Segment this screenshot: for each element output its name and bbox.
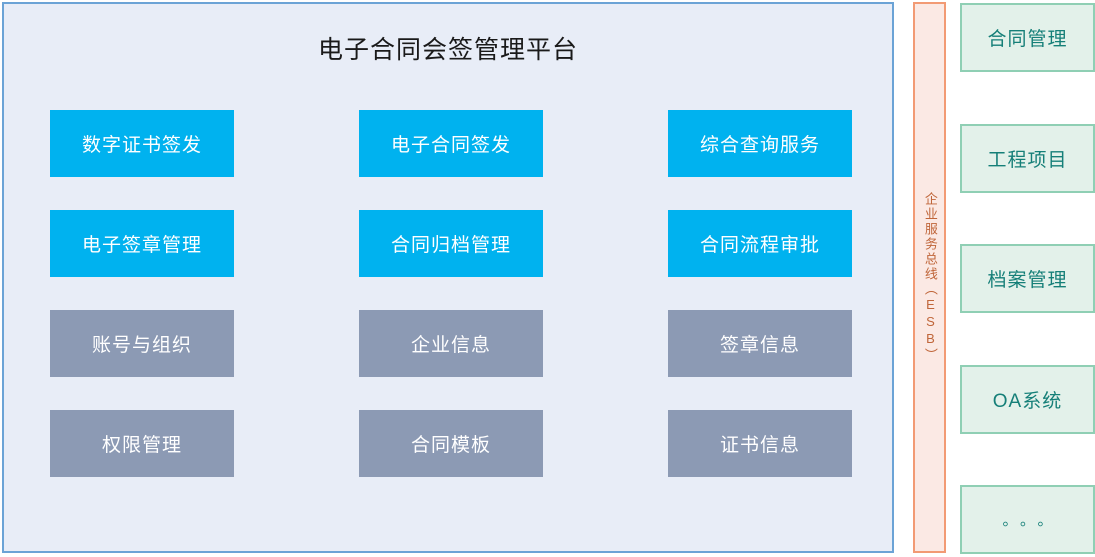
module-box-contract-template[interactable]: 合同模板 bbox=[359, 410, 543, 477]
grid-spacer bbox=[543, 310, 668, 377]
grid-spacer bbox=[234, 110, 359, 177]
module-label: 权限管理 bbox=[102, 430, 182, 457]
module-box-eseal-management[interactable]: 电子签章管理 bbox=[50, 210, 234, 277]
grid-spacer bbox=[234, 410, 359, 477]
module-box-integrated-query-service[interactable]: 综合查询服务 bbox=[668, 110, 852, 177]
system-label: 工程项目 bbox=[987, 145, 1067, 172]
module-box-account-and-organization[interactable]: 账号与组织 bbox=[50, 310, 234, 377]
module-label: 签章信息 bbox=[720, 330, 800, 357]
module-label: 企业信息 bbox=[411, 330, 491, 357]
module-box-digital-certificate-issuance[interactable]: 数字证书签发 bbox=[50, 110, 234, 177]
system-box-archive-management[interactable]: 档案管理 bbox=[960, 244, 1095, 313]
module-box-seal-info[interactable]: 签章信息 bbox=[668, 310, 852, 377]
module-label: 合同流程审批 bbox=[700, 230, 820, 257]
system-box-oa-system[interactable]: OA系统 bbox=[960, 365, 1095, 434]
system-label: 档案管理 bbox=[987, 265, 1067, 292]
system-box-contract-management[interactable]: 合同管理 bbox=[960, 3, 1095, 72]
module-label: 电子签章管理 bbox=[82, 230, 202, 257]
grid-spacer bbox=[234, 310, 359, 377]
module-grid: 数字证书签发 电子合同签发 综合查询服务 电子签章管理 合同归档管理 合同流程审… bbox=[50, 110, 852, 477]
external-systems-column: 合同管理 工程项目 档案管理 OA系统 。。。 bbox=[960, 3, 1095, 554]
system-box-more[interactable]: 。。。 bbox=[960, 485, 1095, 554]
module-label: 综合查询服务 bbox=[700, 130, 820, 157]
module-box-permission-management[interactable]: 权限管理 bbox=[50, 410, 234, 477]
module-label: 合同模板 bbox=[411, 430, 491, 457]
module-label: 电子合同签发 bbox=[391, 130, 511, 157]
grid-spacer bbox=[543, 110, 668, 177]
module-label: 证书信息 bbox=[720, 430, 800, 457]
grid-spacer bbox=[234, 210, 359, 277]
esb-label: 企业服务总线（ESB） bbox=[920, 192, 939, 363]
system-box-engineering-project[interactable]: 工程项目 bbox=[960, 124, 1095, 193]
module-label: 合同归档管理 bbox=[391, 230, 511, 257]
module-box-contract-archiving[interactable]: 合同归档管理 bbox=[359, 210, 543, 277]
grid-spacer bbox=[543, 410, 668, 477]
module-box-certificate-info[interactable]: 证书信息 bbox=[668, 410, 852, 477]
module-label: 账号与组织 bbox=[92, 330, 192, 357]
module-box-enterprise-info[interactable]: 企业信息 bbox=[359, 310, 543, 377]
page-title: 电子合同会签管理平台 bbox=[4, 30, 892, 66]
module-box-econtract-issuance[interactable]: 电子合同签发 bbox=[359, 110, 543, 177]
grid-spacer bbox=[543, 210, 668, 277]
enterprise-service-bus: 企业服务总线（ESB） bbox=[913, 2, 946, 553]
module-box-contract-approval-flow[interactable]: 合同流程审批 bbox=[668, 210, 852, 277]
platform-panel: 电子合同会签管理平台 数字证书签发 电子合同签发 综合查询服务 电子签章管理 合… bbox=[2, 2, 894, 553]
ellipsis-icon: 。。。 bbox=[1002, 509, 1062, 530]
module-label: 数字证书签发 bbox=[82, 130, 202, 157]
system-label: 合同管理 bbox=[987, 24, 1067, 51]
system-label: OA系统 bbox=[993, 386, 1062, 413]
